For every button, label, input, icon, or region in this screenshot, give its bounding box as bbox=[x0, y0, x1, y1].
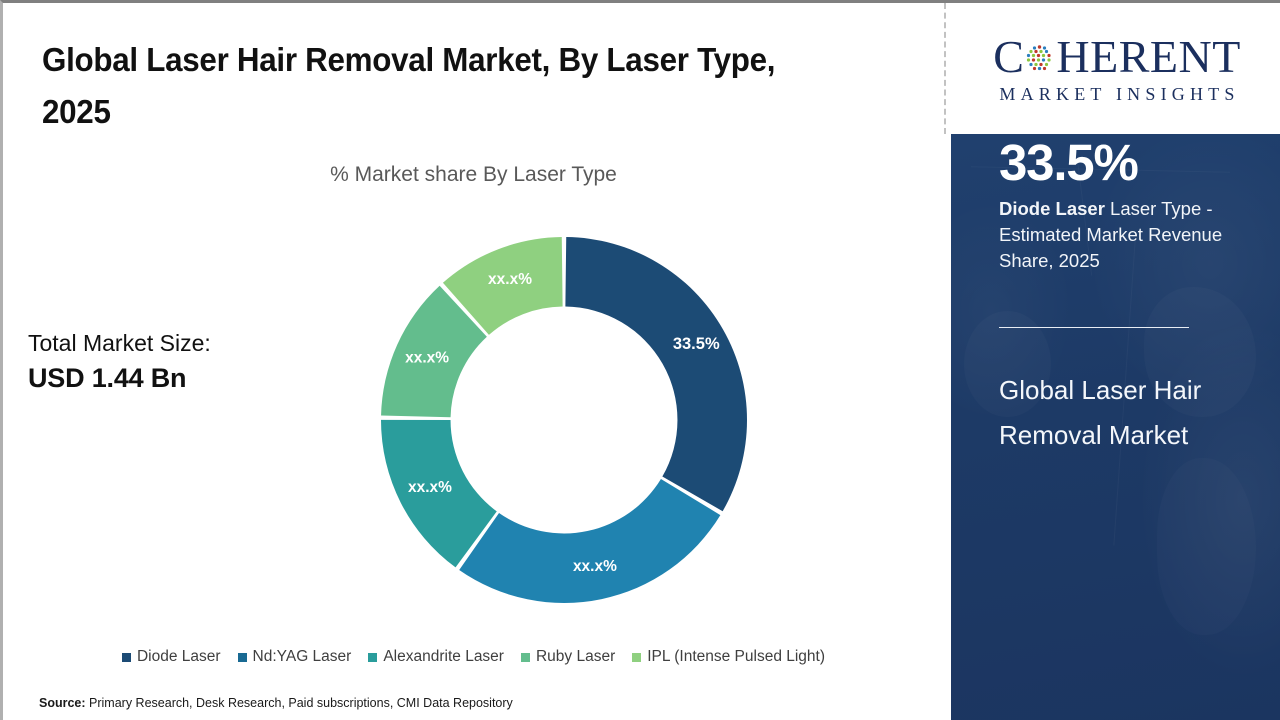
legend-item[interactable]: Alexandrite Laser bbox=[368, 648, 504, 666]
panel-rule bbox=[999, 327, 1189, 328]
legend-swatch bbox=[368, 653, 377, 662]
logo-wordmark-text: HERENT bbox=[1056, 34, 1240, 80]
legend-label: Nd:YAG Laser bbox=[253, 648, 352, 666]
chart-panel: Global Laser Hair Removal Market, By Las… bbox=[3, 3, 944, 720]
stat-value: 33.5% bbox=[999, 135, 1261, 191]
highlight-stat: 33.5% Diode Laser Laser Type - Estimated… bbox=[999, 135, 1261, 274]
legend-item[interactable]: IPL (Intense Pulsed Light) bbox=[632, 648, 825, 666]
logo[interactable]: C bbox=[951, 5, 1280, 134]
total-market-size: Total Market Size: USD 1.44 Bn bbox=[28, 326, 328, 396]
donut-segment[interactable] bbox=[459, 479, 720, 603]
total-market-label: Total Market Size: bbox=[28, 326, 328, 360]
source-label: Source: bbox=[39, 696, 86, 710]
source-note: Source: Primary Research, Desk Research,… bbox=[39, 696, 513, 710]
total-market-value: USD 1.44 Bn bbox=[28, 360, 328, 396]
legend-item[interactable]: Nd:YAG Laser bbox=[238, 648, 352, 666]
legend-label: Alexandrite Laser bbox=[383, 648, 504, 666]
legend-label: Diode Laser bbox=[137, 648, 221, 666]
panel-divider bbox=[944, 3, 946, 134]
donut-segment-label: xx.x% bbox=[405, 349, 449, 366]
brand-panel: C bbox=[951, 3, 1280, 720]
logo-letter-c: C bbox=[993, 34, 1024, 80]
donut-segment[interactable] bbox=[565, 237, 747, 511]
legend-label: IPL (Intense Pulsed Light) bbox=[647, 648, 825, 666]
legend-label: Ruby Laser bbox=[536, 648, 615, 666]
legend-swatch bbox=[521, 653, 530, 662]
donut-chart: 33.5%xx.x%xx.x%xx.x%xx.x% bbox=[373, 229, 755, 611]
stat-description-emphasis: Diode Laser bbox=[999, 198, 1105, 219]
donut-segment-label: xx.x% bbox=[408, 479, 452, 496]
infographic-page: Global Laser Hair Removal Market, By Las… bbox=[0, 0, 1280, 720]
logo-wordmark: C bbox=[993, 34, 1241, 80]
page-title: Global Laser Hair Removal Market, By Las… bbox=[42, 34, 802, 138]
legend-swatch bbox=[632, 653, 641, 662]
donut-segment-label: 33.5% bbox=[673, 335, 720, 353]
stat-description: Diode Laser Laser Type - Estimated Marke… bbox=[999, 196, 1261, 274]
market-name: Global Laser Hair Removal Market bbox=[999, 368, 1249, 458]
texture-blob bbox=[1157, 458, 1257, 635]
logo-tagline: MARKET INSIGHTS bbox=[994, 84, 1239, 105]
source-text: Primary Research, Desk Research, Paid su… bbox=[89, 696, 513, 710]
donut-segment-label: xx.x% bbox=[488, 271, 532, 288]
chart-legend: Diode LaserNd:YAG LaserAlexandrite Laser… bbox=[3, 648, 944, 666]
donut-segment-label: xx.x% bbox=[573, 558, 617, 575]
chart-subtitle: % Market share By Laser Type bbox=[3, 163, 944, 187]
legend-swatch bbox=[238, 653, 247, 662]
legend-item[interactable]: Diode Laser bbox=[122, 648, 221, 666]
legend-item[interactable]: Ruby Laser bbox=[521, 648, 615, 666]
globe-dots-icon bbox=[1024, 43, 1055, 74]
donut-chart-svg: 33.5%xx.x%xx.x%xx.x%xx.x% bbox=[373, 229, 755, 611]
legend-swatch bbox=[122, 653, 131, 662]
